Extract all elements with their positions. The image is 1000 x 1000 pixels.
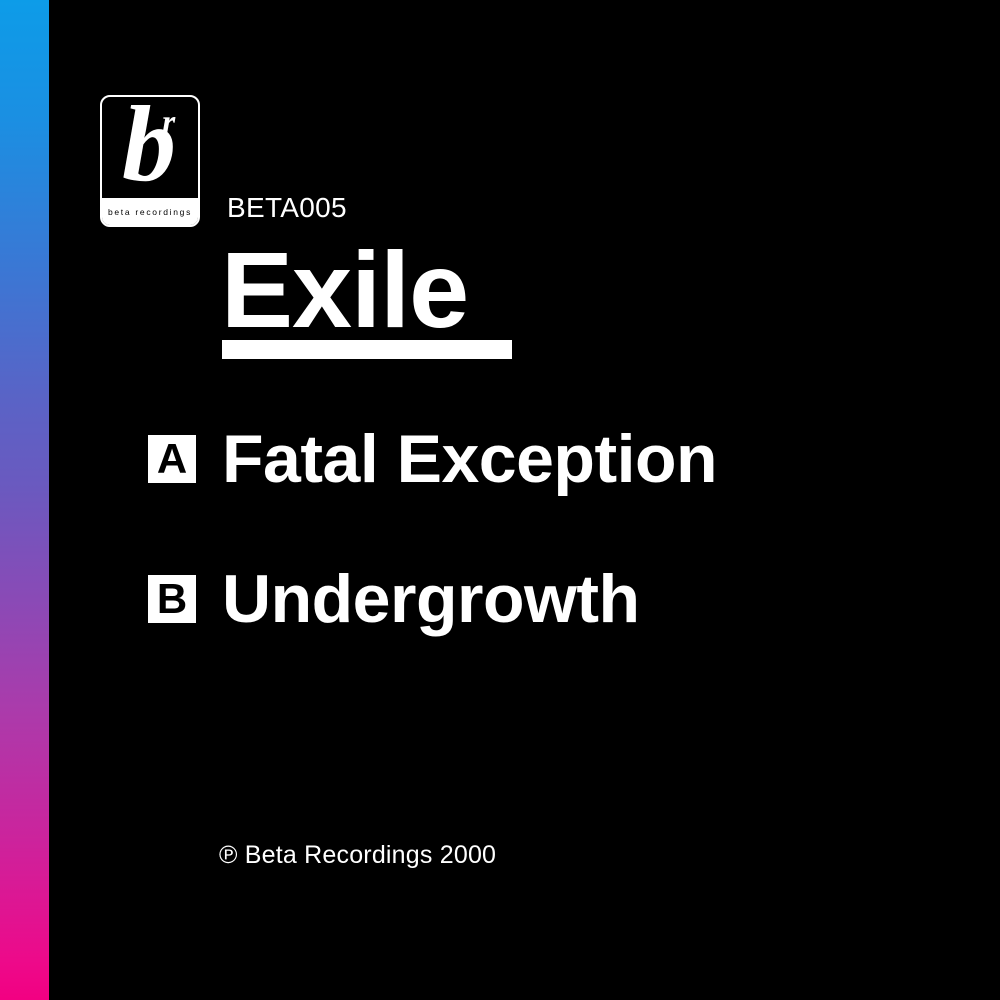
- side-badge-a: A: [148, 435, 196, 483]
- track-title-a: Fatal Exception: [222, 425, 717, 493]
- album-cover: b r beta recordings BETA005 Exile A Fata…: [0, 0, 1000, 1000]
- logo-superscript-r: r: [162, 106, 175, 140]
- catalogue-number: BETA005: [227, 192, 347, 224]
- logo-name-strip: beta recordings: [102, 198, 198, 225]
- gradient-spine: [0, 0, 49, 1000]
- artwork-field: b r beta recordings BETA005 Exile A Fata…: [49, 0, 1000, 1000]
- track-title-b: Undergrowth: [222, 565, 640, 633]
- side-badge-b: B: [148, 575, 196, 623]
- artist-underline-rule: [222, 340, 512, 359]
- artist-name: Exile: [221, 236, 468, 344]
- logo-mark: b r: [102, 97, 198, 201]
- track-row: A Fatal Exception: [148, 425, 717, 493]
- copyright-line: ℗ Beta Recordings 2000: [219, 841, 496, 870]
- beta-recordings-logo: b r beta recordings: [100, 95, 200, 227]
- track-row: B Undergrowth: [148, 565, 640, 633]
- logo-strip-label: beta recordings: [108, 207, 192, 217]
